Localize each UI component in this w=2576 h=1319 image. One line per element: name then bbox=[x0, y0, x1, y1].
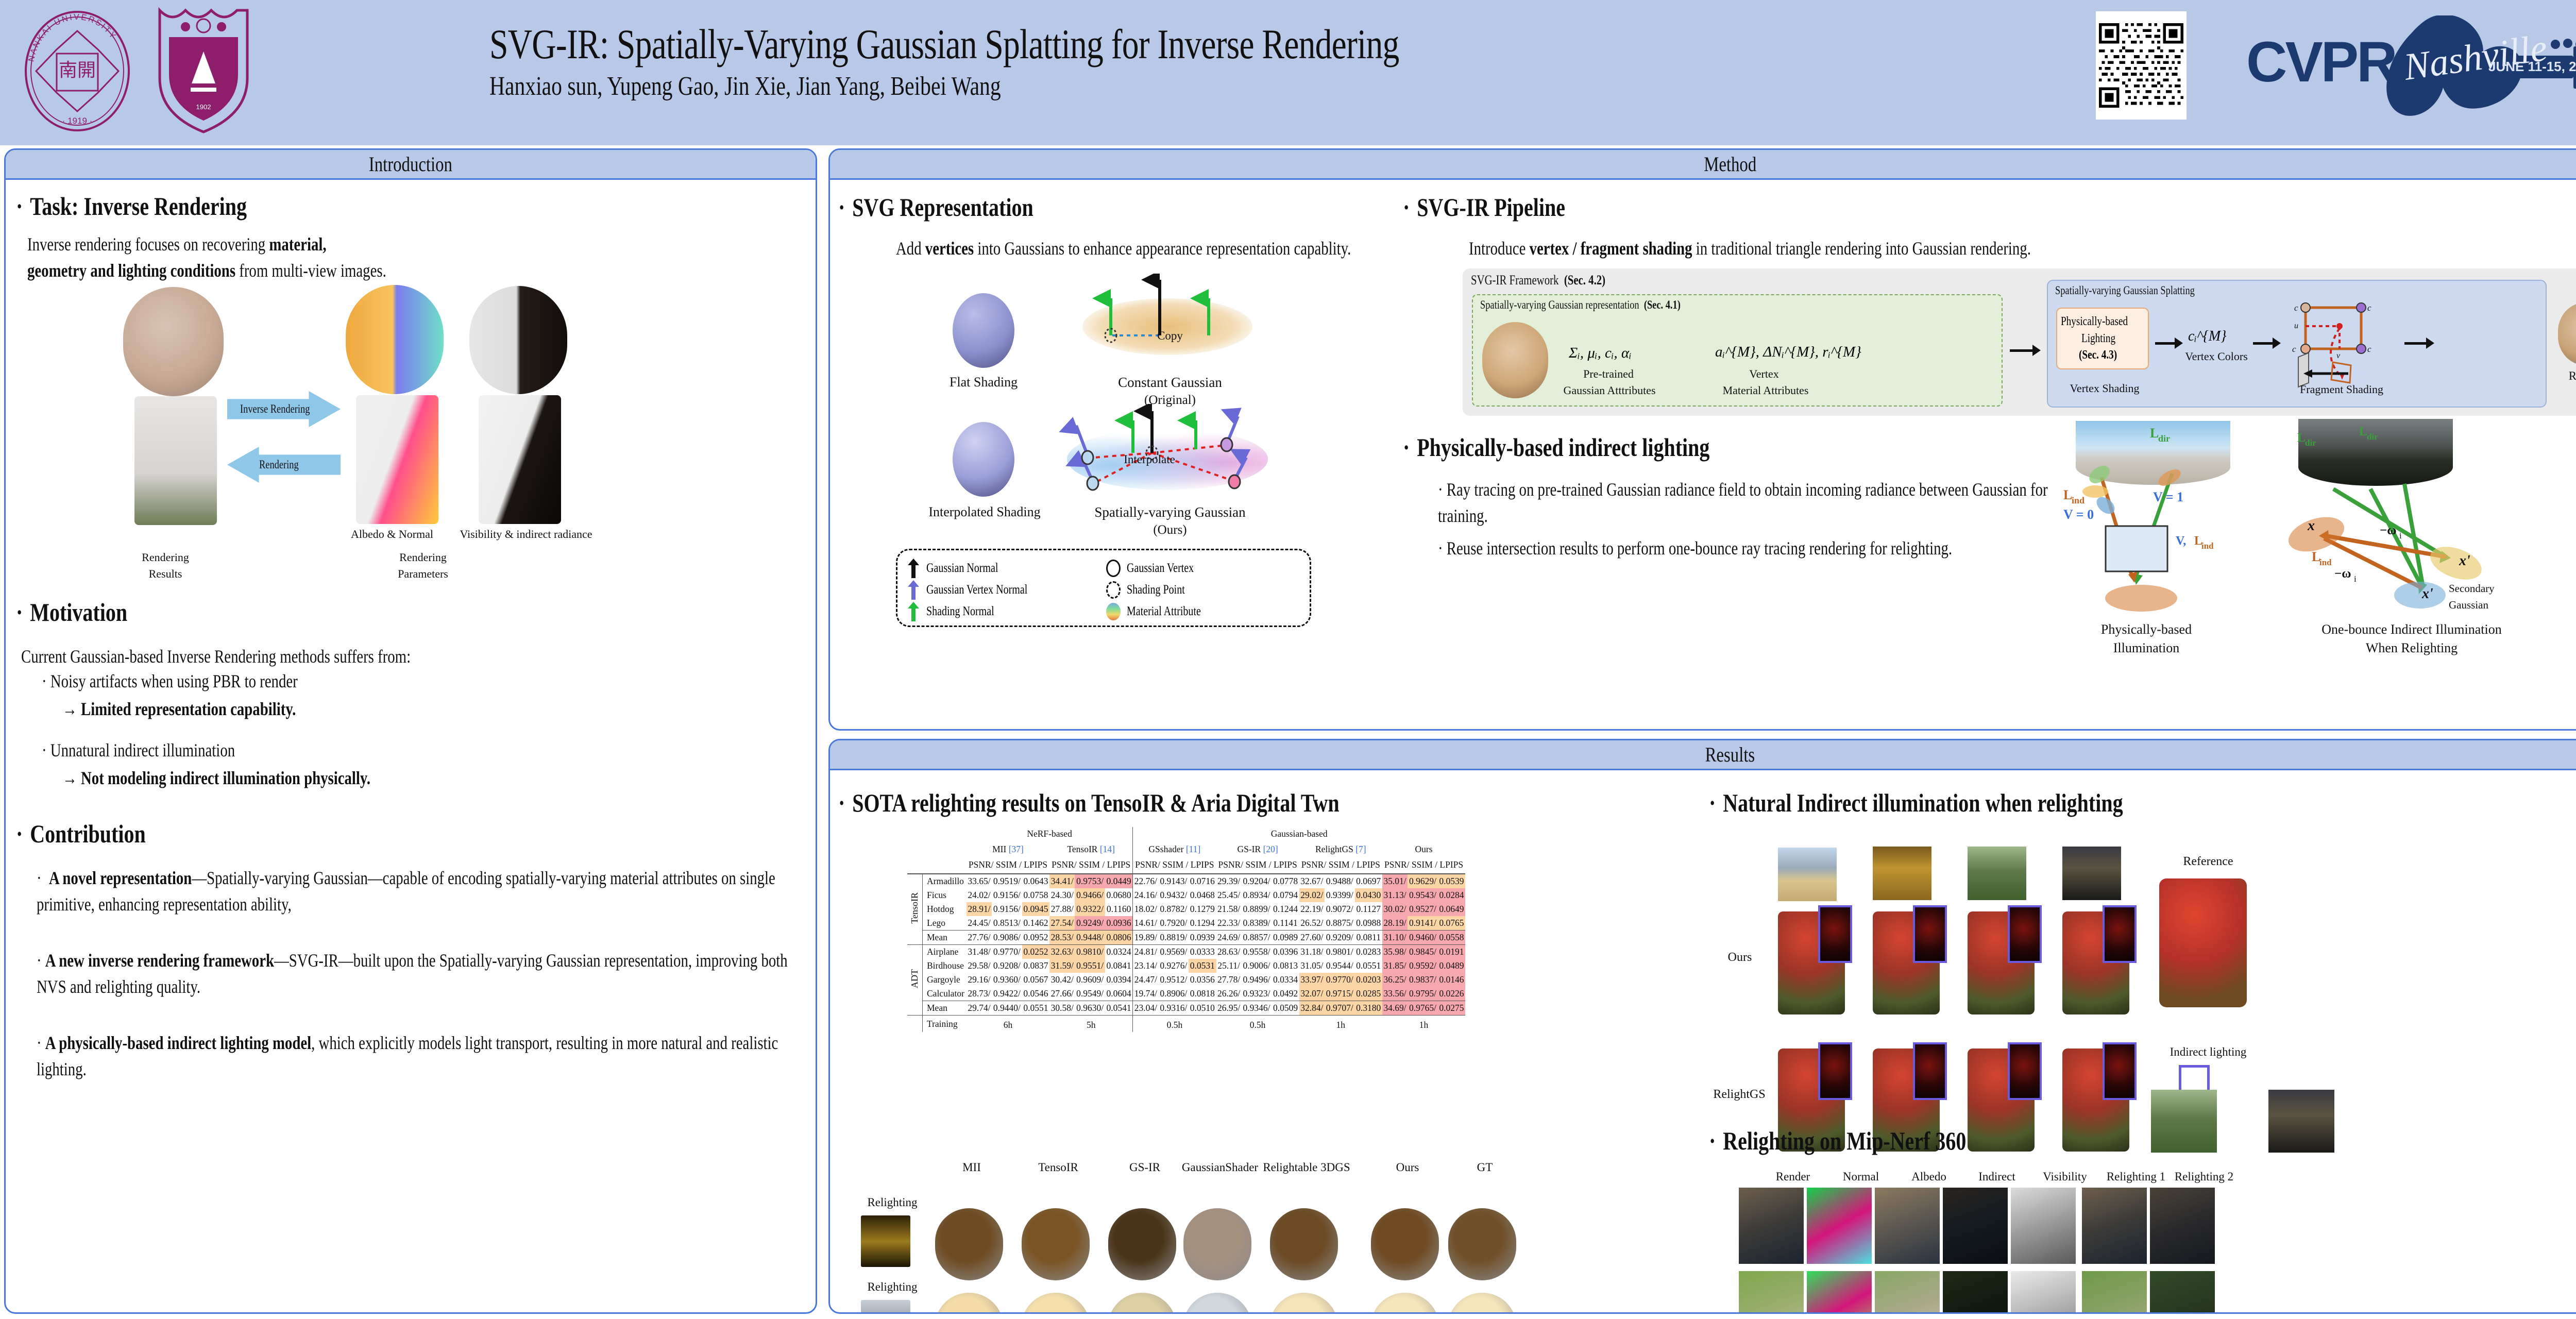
metric-header: PSNR/ SSIM / LPIPS bbox=[1299, 858, 1382, 874]
metric-cell: 24.02/ bbox=[967, 888, 992, 902]
svg-text:i: i bbox=[2354, 574, 2357, 584]
metric-cell: 0.0952 bbox=[1022, 931, 1049, 945]
metric-cell: 34.69/ bbox=[1382, 1001, 1408, 1016]
one-bounce-illumination-diagram: L dir L dir x x' x' −ω i −ω i L ind Seco… bbox=[2267, 417, 2556, 633]
group-header: Gaussian-based bbox=[1133, 827, 1465, 842]
arrow-to-splatting bbox=[2010, 345, 2041, 356]
svg-text:−ω: −ω bbox=[2334, 567, 2351, 581]
cvpr-wordmark: CVPR bbox=[2246, 30, 2397, 94]
metric-cell: 0.0333 bbox=[1189, 945, 1216, 959]
svg-text:ind: ind bbox=[2201, 541, 2214, 551]
vertex-colors-symbol: cᵢ^{M} bbox=[2188, 328, 2226, 345]
metric-cell: 0.0551 bbox=[1022, 1001, 1049, 1016]
metric-cell: 36.25/ bbox=[1382, 973, 1408, 987]
svg-text:· 1919 ·: · 1919 · bbox=[62, 116, 93, 126]
metric-cell: 14.61/ bbox=[1133, 916, 1159, 931]
contribution-item-0: · A novel representation—Spatially-varyi… bbox=[37, 865, 804, 918]
metric-cell: 25.45/ bbox=[1216, 888, 1242, 902]
metric-cell: 0.0510 bbox=[1189, 1001, 1216, 1016]
fragment-shading-label: Fragment Shading bbox=[2275, 383, 2409, 396]
metric-cell: 32.63/ bbox=[1049, 945, 1075, 959]
framework-label: SVG-IR Framework (Sec. 4.2) bbox=[1471, 273, 1639, 288]
metric-header: PSNR/ SSIM / LPIPS bbox=[967, 858, 1049, 874]
caption-albedo-normal: Albedo & Normal bbox=[325, 528, 459, 541]
caption-onebounce-2: When Relighting bbox=[2267, 640, 2556, 656]
gallery-cell bbox=[1108, 1208, 1176, 1280]
metric-cell: 24.47/ bbox=[1133, 973, 1159, 987]
svg-text:u: u bbox=[2294, 322, 2298, 330]
svg-text:Gaussian: Gaussian bbox=[2449, 599, 2488, 611]
svg-text:c: c bbox=[2294, 303, 2298, 313]
metric-cell: 26.26/ bbox=[1216, 987, 1242, 1001]
caption-rendering-params-1: Rendering bbox=[361, 551, 485, 564]
panel-method-title: Method bbox=[830, 150, 2576, 180]
metric-cell: 0.0394 bbox=[1105, 973, 1133, 987]
render-label: Render bbox=[2550, 369, 2576, 383]
albedo-normal-duck bbox=[356, 395, 438, 524]
physically-based-lighting-box: Physically-based Lighting (Sec. 4.3) bbox=[2056, 308, 2149, 369]
svg-text:v: v bbox=[2336, 351, 2341, 360]
group-header: NeRF-based bbox=[967, 827, 1133, 842]
metric-cell: 24.30/ bbox=[1049, 888, 1075, 902]
svg-text:L: L bbox=[2063, 487, 2072, 502]
legend-item-vertex-normal: Gaussian Vertex Normal bbox=[908, 579, 1106, 601]
metric-cell: 0.0939 bbox=[1189, 931, 1216, 945]
gallery-cell bbox=[1183, 1208, 1251, 1280]
metric-cell: 26.95/ bbox=[1216, 1001, 1242, 1016]
qr-code[interactable] bbox=[2096, 11, 2187, 120]
training-value: 6h bbox=[967, 1016, 1049, 1033]
metric-cell: 0.0492 bbox=[1272, 987, 1299, 1001]
visibility-indirect-hotdog bbox=[469, 286, 567, 394]
metric-cell: 28.53/ bbox=[1049, 931, 1075, 945]
caption-visibility: Visibility & indirect radiance bbox=[449, 528, 603, 541]
metric-cell: 22.33/ bbox=[1216, 916, 1242, 931]
svg-text:c: c bbox=[2292, 344, 2296, 354]
metric-cell: 0.0285 bbox=[1355, 987, 1382, 1001]
caption-svg-gaussian: Spatially-varying Gaussian bbox=[1046, 504, 1294, 520]
metric-cell: 0.0489 bbox=[1438, 959, 1465, 973]
svg-representation-box: Spatially-varying Gaussian representatio… bbox=[1472, 294, 2003, 407]
metric-cell: 28.19/ bbox=[1382, 916, 1408, 931]
mipnerf-env-forest bbox=[2151, 1090, 2217, 1153]
metric-cell: 0.0837 bbox=[1022, 959, 1049, 973]
metric-cell: 29.02/ bbox=[1299, 888, 1325, 902]
caption-interpolated-shading: Interpolated Shading bbox=[918, 504, 1052, 520]
method-header: GSshader [11] bbox=[1133, 842, 1216, 858]
metric-cell: 0.0806 bbox=[1105, 931, 1133, 945]
metric-cell: 0.9630/ bbox=[1075, 1001, 1105, 1016]
natural-row-ours: Ours bbox=[1709, 951, 1771, 965]
metric-cell: 0.8934/ bbox=[1242, 888, 1272, 902]
metric-cell: 0.3180 bbox=[1355, 1001, 1382, 1016]
interpolated-shading-sphere bbox=[953, 422, 1014, 497]
table-row: Hotdog28.91/0.9156/0.094527.88/0.9322/0.… bbox=[907, 902, 1465, 916]
label-copy: Copy bbox=[1118, 329, 1222, 343]
gallery-cell bbox=[1448, 1208, 1516, 1280]
metric-cell: 0.0841 bbox=[1105, 959, 1133, 973]
metric-cell: 0.0539 bbox=[1438, 874, 1465, 888]
metric-cell: 31.13/ bbox=[1382, 888, 1408, 902]
table-row: Mean27.76/0.9086/0.095228.53/0.9448/0.08… bbox=[907, 931, 1465, 945]
svg-text:−ω: −ω bbox=[2380, 523, 2397, 537]
caption-flat-shading: Flat Shading bbox=[927, 375, 1040, 390]
metric-cell: 24.16/ bbox=[1133, 888, 1159, 902]
svg-text:x': x' bbox=[2421, 586, 2433, 602]
metric-cell: 35.01/ bbox=[1382, 874, 1408, 888]
svg-text:Secondary: Secondary bbox=[2449, 582, 2495, 595]
metric-cell: 23.04/ bbox=[1133, 1001, 1159, 1016]
metric-cell: 0.0283 bbox=[1355, 945, 1382, 959]
arrow-to-render bbox=[2404, 337, 2434, 349]
vertex-label-1: Vertex bbox=[1715, 367, 1813, 381]
formula-gaussian-attrs: Σᵢ, μᵢ, cᵢ, αᵢ bbox=[1569, 345, 1632, 362]
arrow-to-fragment bbox=[2253, 337, 2281, 349]
metric-cell: 0.0191 bbox=[1438, 945, 1465, 959]
arrow-rendering: Rendering bbox=[227, 447, 341, 483]
metric-cell: 0.0396 bbox=[1272, 945, 1299, 959]
envmap-thumbnail bbox=[861, 1300, 910, 1314]
metric-cell: 0.0324 bbox=[1105, 945, 1133, 959]
gallery-cell bbox=[1022, 1208, 1090, 1280]
table-metric-header-row: PSNR/ SSIM / LPIPSPSNR/ SSIM / LPIPSPSNR… bbox=[907, 858, 1465, 874]
gallery-cell bbox=[1270, 1293, 1338, 1314]
svg-text:南開: 南開 bbox=[59, 60, 96, 81]
metric-cell: 0.9549/ bbox=[1075, 987, 1105, 1001]
motivation-intro-text: Current Gaussian-based Inverse Rendering… bbox=[21, 644, 794, 670]
method-svg-heading: ·SVG Representation bbox=[838, 192, 1082, 222]
page-title: SVG-IR: Spatially-Varying Gaussian Splat… bbox=[489, 21, 1520, 68]
metric-cell: 0.0531 bbox=[1189, 959, 1216, 973]
metric-cell: 0.0541 bbox=[1105, 1001, 1133, 1016]
metric-cell: 0.9466/ bbox=[1075, 888, 1105, 902]
metric-cell: 0.9592/ bbox=[1408, 959, 1438, 973]
hotdog-thumbnail bbox=[1482, 322, 1548, 398]
motivation-item-0-arrow: → Limited representation capability. bbox=[62, 696, 354, 722]
metric-cell: 24.45/ bbox=[967, 916, 992, 931]
gaussian-splatting-box: Spatially-varying Gaussian Splatting Phy… bbox=[2047, 280, 2547, 408]
mipnerf-cell bbox=[2082, 1271, 2147, 1314]
svg-text:V = 1: V = 1 bbox=[2153, 489, 2183, 504]
metric-cell: 0.8875/ bbox=[1325, 916, 1355, 931]
metric-cell: 0.9558/ bbox=[1242, 945, 1272, 959]
gallery-cell bbox=[1371, 1293, 1439, 1314]
motivation-item-0: · Noisy artifacts when using PBR to rend… bbox=[42, 668, 362, 695]
svg-text:L: L bbox=[2150, 426, 2159, 441]
metric-cell: 0.9707/ bbox=[1325, 1001, 1355, 1016]
metric-cell: 28.73/ bbox=[967, 987, 992, 1001]
metric-cell: 28.63/ bbox=[1216, 945, 1242, 959]
metric-cell: 0.9422/ bbox=[992, 987, 1022, 1001]
gallery-header: GS-IR bbox=[1101, 1161, 1189, 1174]
method-header: GS-IR [20] bbox=[1216, 842, 1299, 858]
metric-cell: 0.8782/ bbox=[1159, 902, 1189, 916]
env-city-thumbnail bbox=[1778, 848, 1837, 901]
mipnerf-cell bbox=[2082, 1188, 2147, 1264]
metric-cell: 0.0936 bbox=[1105, 916, 1133, 931]
metric-cell: 0.9770/ bbox=[992, 945, 1022, 959]
conference-dates: JUNE 11-15, 2025 bbox=[2488, 59, 2576, 74]
reference-fruits bbox=[2159, 878, 2247, 1007]
panel-results-title: Results bbox=[830, 740, 2576, 770]
metric-cell: 0.9496/ bbox=[1242, 973, 1272, 987]
metric-cell: 0.9551/ bbox=[1075, 959, 1105, 973]
mipnerf-cell bbox=[1807, 1188, 1872, 1264]
metric-cell: 31.48/ bbox=[967, 945, 992, 959]
mipnerf-cell bbox=[1739, 1188, 1804, 1264]
panel-method-label: Method bbox=[1704, 152, 1756, 176]
scene-name: Gargoyle bbox=[923, 973, 967, 987]
green-up-arrow-icon bbox=[908, 602, 919, 621]
table-group-header-row: NeRF-basedGaussian-based bbox=[907, 827, 1465, 842]
caption-pbi-1: Physically-based bbox=[2061, 622, 2231, 637]
method-pipeline-text: Introduce vertex / fragment shading in t… bbox=[1469, 235, 2576, 262]
gallery-header: GaussianShader bbox=[1176, 1161, 1264, 1174]
gallery-cell bbox=[935, 1208, 1003, 1280]
natural-inset bbox=[1913, 905, 1947, 963]
metric-cell: 33.97/ bbox=[1299, 973, 1325, 987]
svg-text:dir: dir bbox=[2367, 432, 2378, 442]
nankai-university-logo: 南開 · 1919 · NANKAI UNIVERSITY bbox=[21, 9, 134, 133]
scene-name: Ficus bbox=[923, 888, 967, 902]
metric-cell: 0.7920/ bbox=[1159, 916, 1189, 931]
metric-cell: 32.84/ bbox=[1299, 1001, 1325, 1016]
metric-cell: 0.0558 bbox=[1438, 931, 1465, 945]
scene-name: Airplane bbox=[923, 945, 967, 959]
natural-inset bbox=[2008, 905, 2042, 963]
metric-cell: 0.9249/ bbox=[1075, 916, 1105, 931]
metric-cell: 0.9072/ bbox=[1325, 902, 1355, 916]
metric-cell: 29.58/ bbox=[967, 959, 992, 973]
pretrained-label-1: Pre-trained bbox=[1554, 367, 1663, 381]
metric-cell: 0.9629/ bbox=[1408, 874, 1438, 888]
metric-cell: 0.9399/ bbox=[1325, 888, 1355, 902]
metric-cell: 34.41/ bbox=[1049, 874, 1075, 888]
table-row: Lego24.45/0.8513/0.146227.54/0.9249/0.09… bbox=[907, 916, 1465, 931]
fragment-shading-diagram: c c c c u v bbox=[2284, 296, 2397, 389]
panel-introduction: Introduction ·Task: Inverse Rendering In… bbox=[4, 148, 817, 1314]
method-header: Ours bbox=[1382, 842, 1465, 858]
svg-text:c: c bbox=[2367, 303, 2371, 313]
metric-header: PSNR/ SSIM / LPIPS bbox=[1382, 858, 1465, 874]
metric-cell: 33.65/ bbox=[967, 874, 992, 888]
metric-cell: 0.0988 bbox=[1355, 916, 1382, 931]
natural-reference-label: Reference bbox=[2149, 855, 2267, 869]
metric-cell: 29.39/ bbox=[1216, 874, 1242, 888]
indirect-item-0: · Ray tracing on pre-trained Gaussian ra… bbox=[1438, 477, 2051, 529]
metric-cell: 0.9837/ bbox=[1408, 973, 1438, 987]
metric-cell: 0.9753/ bbox=[1075, 874, 1105, 888]
arrow-inverse-rendering: Inverse Rendering bbox=[227, 391, 341, 427]
caption-rendering-results-2: Results bbox=[104, 567, 227, 581]
render-result-hotdog bbox=[123, 287, 224, 396]
table-row: TensoIRArmadillo33.65/0.9519/0.064334.41… bbox=[907, 874, 1465, 888]
vertex-shading-label: Vertex Shading bbox=[2053, 382, 2156, 395]
method-header: RelightGS [7] bbox=[1299, 842, 1382, 858]
training-value: 5h bbox=[1049, 1016, 1133, 1033]
envmap-thumbnail bbox=[861, 1215, 910, 1267]
metric-cell: 0.0334 bbox=[1272, 973, 1299, 987]
indirect-item-1: · Reuse intersection results to perform … bbox=[1438, 535, 2051, 562]
title-block: SVG-IR: Spatially-Varying Gaussian Splat… bbox=[489, 21, 1777, 102]
panel-introduction-title: Introduction bbox=[6, 150, 816, 180]
metric-cell: 27.60/ bbox=[1299, 931, 1325, 945]
metric-cell: 0.9512/ bbox=[1159, 973, 1189, 987]
metric-cell: 0.9845/ bbox=[1408, 945, 1438, 959]
legend-item-shading-point: Shading Point bbox=[1106, 579, 1299, 601]
metric-cell: 0.9715/ bbox=[1325, 987, 1355, 1001]
metric-cell: 31.18/ bbox=[1299, 945, 1325, 959]
natural-inset bbox=[2103, 1042, 2137, 1100]
metric-header: PSNR/ SSIM / LPIPS bbox=[1133, 858, 1216, 874]
metric-cell: 0.9810/ bbox=[1075, 945, 1105, 959]
metric-cell: 22.76/ bbox=[1133, 874, 1159, 888]
panel-method: Method ·SVG Representation Add vertices … bbox=[828, 148, 2576, 731]
method-indirect-heading: ·Physically-based indirect lighting bbox=[1403, 432, 1786, 462]
metric-cell: 0.1294 bbox=[1189, 916, 1216, 931]
metric-cell: 0.8906/ bbox=[1159, 987, 1189, 1001]
method-pipeline-heading: ·SVG-IR Pipeline bbox=[1403, 192, 1606, 222]
svg-text:V = 0: V = 0 bbox=[2063, 507, 2094, 522]
metric-cell: 0.0697 bbox=[1355, 874, 1382, 888]
metric-cell: 29.74/ bbox=[967, 1001, 992, 1016]
metric-cell: 0.9141/ bbox=[1408, 916, 1438, 931]
mipnerf-cell bbox=[2011, 1188, 2076, 1264]
metric-cell: 0.0430 bbox=[1355, 888, 1382, 902]
metric-cell: 0.0284 bbox=[1438, 888, 1465, 902]
mipnerf-cell bbox=[1943, 1188, 2008, 1264]
metric-cell: 0.9322/ bbox=[1075, 902, 1105, 916]
contribution-item-2: · A physically-based indirect lighting m… bbox=[37, 1030, 804, 1083]
solid-ellipse-icon bbox=[1106, 560, 1121, 577]
metric-cell: 30.58/ bbox=[1049, 1001, 1075, 1016]
group-label: TensoIR bbox=[907, 874, 923, 945]
legend-item-gaussian-normal: Gaussian Normal bbox=[908, 557, 1106, 579]
caption-rendering-results-1: Rendering bbox=[104, 551, 227, 564]
panel-results: Results ·SOTA relighting results on Tens… bbox=[828, 739, 2576, 1314]
metric-cell: 0.0649 bbox=[1438, 902, 1465, 916]
scene-name: Armadillo bbox=[923, 874, 967, 888]
caption-svg-gaussian-sub: (Ours) bbox=[1046, 523, 1294, 537]
caption-rendering-params-2: Parameters bbox=[361, 567, 485, 581]
motivation-item-1-arrow: → Not modeling indirect illumination phy… bbox=[62, 765, 447, 791]
metric-cell: 0.9770/ bbox=[1325, 973, 1355, 987]
metric-cell: 0.9448/ bbox=[1075, 931, 1105, 945]
gallery-header: GT bbox=[1441, 1161, 1529, 1174]
metric-cell: 0.0794 bbox=[1272, 888, 1299, 902]
flat-shading-sphere bbox=[953, 293, 1014, 368]
svg-legend-box: Gaussian Normal Gaussian Vertex Normal S… bbox=[896, 549, 1311, 627]
gallery-cell bbox=[935, 1293, 1003, 1314]
svg-text:L: L bbox=[2359, 425, 2367, 438]
motivation-item-1: · Unnatural indirect illumination bbox=[42, 737, 283, 764]
metric-cell: 0.9519/ bbox=[992, 874, 1022, 888]
metric-cell: 0.0509 bbox=[1272, 1001, 1299, 1016]
gallery-cell bbox=[1270, 1208, 1338, 1280]
metric-cell: 0.9360/ bbox=[992, 973, 1022, 987]
metric-cell: 0.8899/ bbox=[1242, 902, 1272, 916]
metric-cell: 0.0811 bbox=[1355, 931, 1382, 945]
metric-cell: 0.9543/ bbox=[1408, 888, 1438, 902]
metric-cell: 0.9765/ bbox=[1408, 1001, 1438, 1016]
gallery-cell bbox=[1108, 1293, 1176, 1314]
mipnerf-cell bbox=[1943, 1271, 2008, 1314]
metric-cell: 30.02/ bbox=[1382, 902, 1408, 916]
metric-cell: 0.9432/ bbox=[1159, 888, 1189, 902]
caption-onebounce-1: One-bounce Indirect Illumination bbox=[2267, 622, 2556, 637]
metric-header: PSNR/ SSIM / LPIPS bbox=[1049, 858, 1133, 874]
intro-task-heading: ·Task: Inverse Rendering bbox=[16, 191, 304, 221]
scene-name: Lego bbox=[923, 916, 967, 931]
table-row: Ficus24.02/0.9156/0.075824.30/0.9466/0.0… bbox=[907, 888, 1465, 902]
table-row: Birdhouse29.58/0.9208/0.083731.59/0.9551… bbox=[907, 959, 1465, 973]
group-label: ADT bbox=[907, 945, 923, 1016]
metric-cell: 0.0146 bbox=[1438, 973, 1465, 987]
purple-up-arrow-icon bbox=[908, 580, 919, 600]
intro-contribution-heading: ·Contribution bbox=[16, 819, 178, 849]
gallery-header: Relightable 3DGS bbox=[1263, 1161, 1350, 1174]
env-indoor-thumbnail bbox=[1873, 847, 1931, 900]
vertex-label-2: Material Attributes bbox=[1688, 384, 1843, 397]
svg-text:i: i bbox=[2399, 531, 2402, 540]
metric-cell: 0.9143/ bbox=[1159, 874, 1189, 888]
metric-cell: 0.9204/ bbox=[1242, 874, 1272, 888]
training-value: 1h bbox=[1299, 1016, 1382, 1033]
legend-item-gaussian-vertex: Gaussian Vertex bbox=[1106, 557, 1299, 579]
metric-cell: 27.78/ bbox=[1216, 973, 1242, 987]
metric-cell: 0.9460/ bbox=[1408, 931, 1438, 945]
natural-inset bbox=[1818, 905, 1852, 963]
env-forest-thumbnail bbox=[1968, 847, 2026, 900]
metric-cell: 0.8513/ bbox=[992, 916, 1022, 931]
render-result-duck bbox=[134, 396, 217, 525]
metric-cell: 0.1127 bbox=[1355, 902, 1382, 916]
metric-cell: 0.9276/ bbox=[1159, 959, 1189, 973]
metric-cell: 27.88/ bbox=[1049, 902, 1075, 916]
metric-cell: 24.69/ bbox=[1216, 931, 1242, 945]
natural-row-relightgs: RelightGS bbox=[1701, 1088, 1778, 1102]
table-row: Mean29.74/0.9440/0.055130.58/0.9630/0.05… bbox=[907, 1001, 1465, 1016]
metric-cell: 0.0680 bbox=[1105, 888, 1133, 902]
dashed-ellipse-icon bbox=[1106, 581, 1121, 599]
panel-introduction-label: Introduction bbox=[369, 152, 452, 176]
metric-cell: 0.0813 bbox=[1272, 959, 1299, 973]
training-value: 1h bbox=[1382, 1016, 1465, 1033]
metric-cell: 0.0643 bbox=[1022, 874, 1049, 888]
scene-name: Mean bbox=[923, 931, 967, 945]
metric-cell: 0.9156/ bbox=[992, 888, 1022, 902]
mipnerf-cell bbox=[1807, 1271, 1872, 1314]
metric-cell: 0.8819/ bbox=[1159, 931, 1189, 945]
metric-cell: 0.0546 bbox=[1022, 987, 1049, 1001]
label-interpolate: Interpolate bbox=[1082, 453, 1216, 466]
metric-cell: 0.0275 bbox=[1438, 1001, 1465, 1016]
results-mipnerf-heading: ·Relighting on Mip-Nerf 360 bbox=[1709, 1126, 2030, 1156]
metric-cell: 0.1244 bbox=[1272, 902, 1299, 916]
metric-cell: 0.9801/ bbox=[1325, 945, 1355, 959]
gallery-row-label: Relighting bbox=[849, 1196, 936, 1209]
panel-results-label: Results bbox=[1705, 742, 1755, 767]
method-header: MII [37] bbox=[967, 842, 1049, 858]
svg-text:L: L bbox=[2297, 431, 2306, 445]
metric-cell: 0.0449 bbox=[1105, 874, 1133, 888]
natural-inset bbox=[1913, 1042, 1947, 1100]
gallery-cell bbox=[1183, 1293, 1251, 1314]
metric-cell: 30.42/ bbox=[1049, 973, 1075, 987]
metric-cell: 0.0203 bbox=[1355, 973, 1382, 987]
natural-inset bbox=[2103, 905, 2137, 963]
gallery-header: Ours bbox=[1364, 1161, 1451, 1174]
